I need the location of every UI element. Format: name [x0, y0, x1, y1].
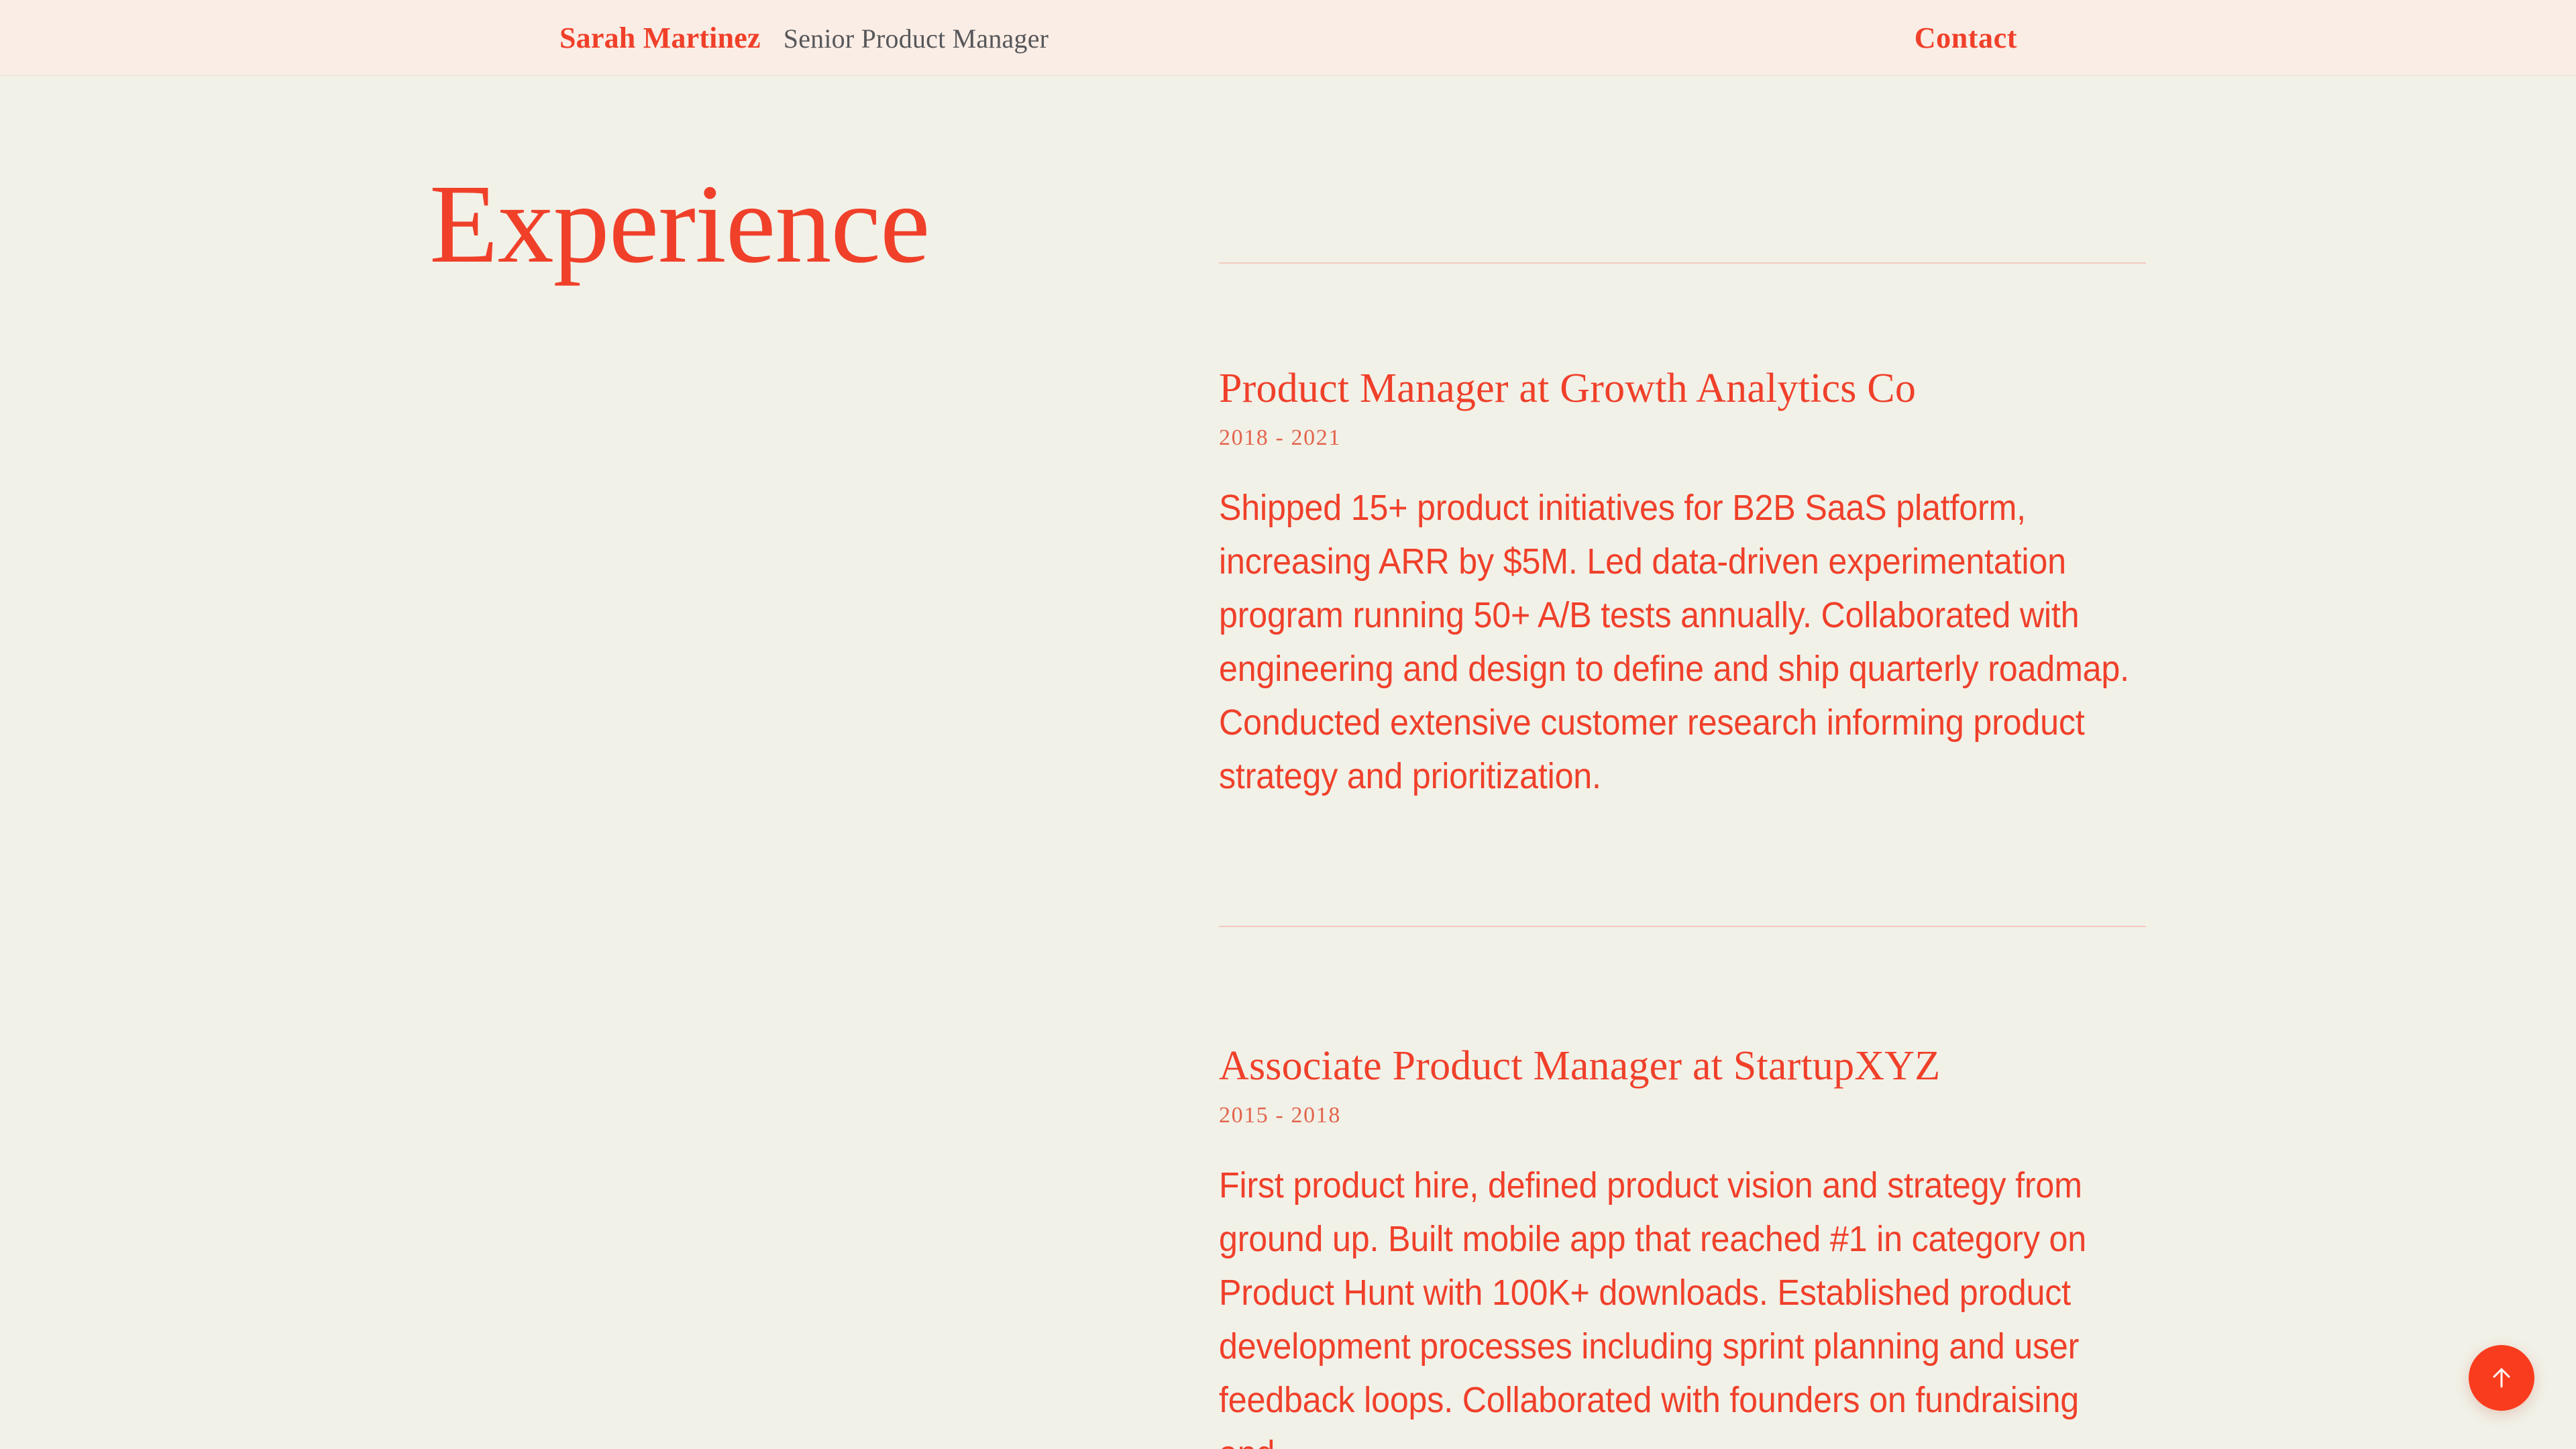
experience-date-range: 2015 - 2018	[1219, 1103, 2148, 1128]
scroll-to-top-button[interactable]	[2469, 1345, 2534, 1411]
experience-entry: Product Manager at Growth Analytics Co 2…	[1219, 366, 2148, 804]
experience-description: Shipped 15+ product initiatives for B2B …	[1219, 482, 2142, 803]
brand-role: Senior Product Manager	[784, 23, 1049, 54]
experience-job-title: Associate Product Manager at StartupXYZ	[1219, 1043, 2148, 1089]
portfolio-page: Experience engineers, designers, and ana…	[0, 0, 2576, 1449]
experience-description: First product hire, defined product visi…	[1219, 1159, 2142, 1449]
page-content: Experience engineers, designers, and ana…	[0, 0, 2576, 1449]
experience-date-range: 2018 - 2021	[1219, 425, 2148, 451]
section-divider	[1219, 262, 2146, 264]
section-heading-column: Experience	[429, 0, 1167, 1449]
brand[interactable]: Sarah Martinez Senior Product Manager	[559, 21, 1049, 55]
nav-link-contact[interactable]: Contact	[1915, 21, 2017, 55]
brand-name[interactable]: Sarah Martinez	[559, 21, 761, 55]
arrow-up-icon	[2487, 1363, 2516, 1393]
experience-job-title: Product Manager at Growth Analytics Co	[1219, 366, 2148, 412]
section-divider	[1219, 926, 2146, 927]
page-title: Experience	[429, 168, 930, 280]
experience-entry: Associate Product Manager at StartupXYZ …	[1219, 1043, 2148, 1449]
site-header: Sarah Martinez Senior Product Manager Co…	[0, 0, 2576, 76]
